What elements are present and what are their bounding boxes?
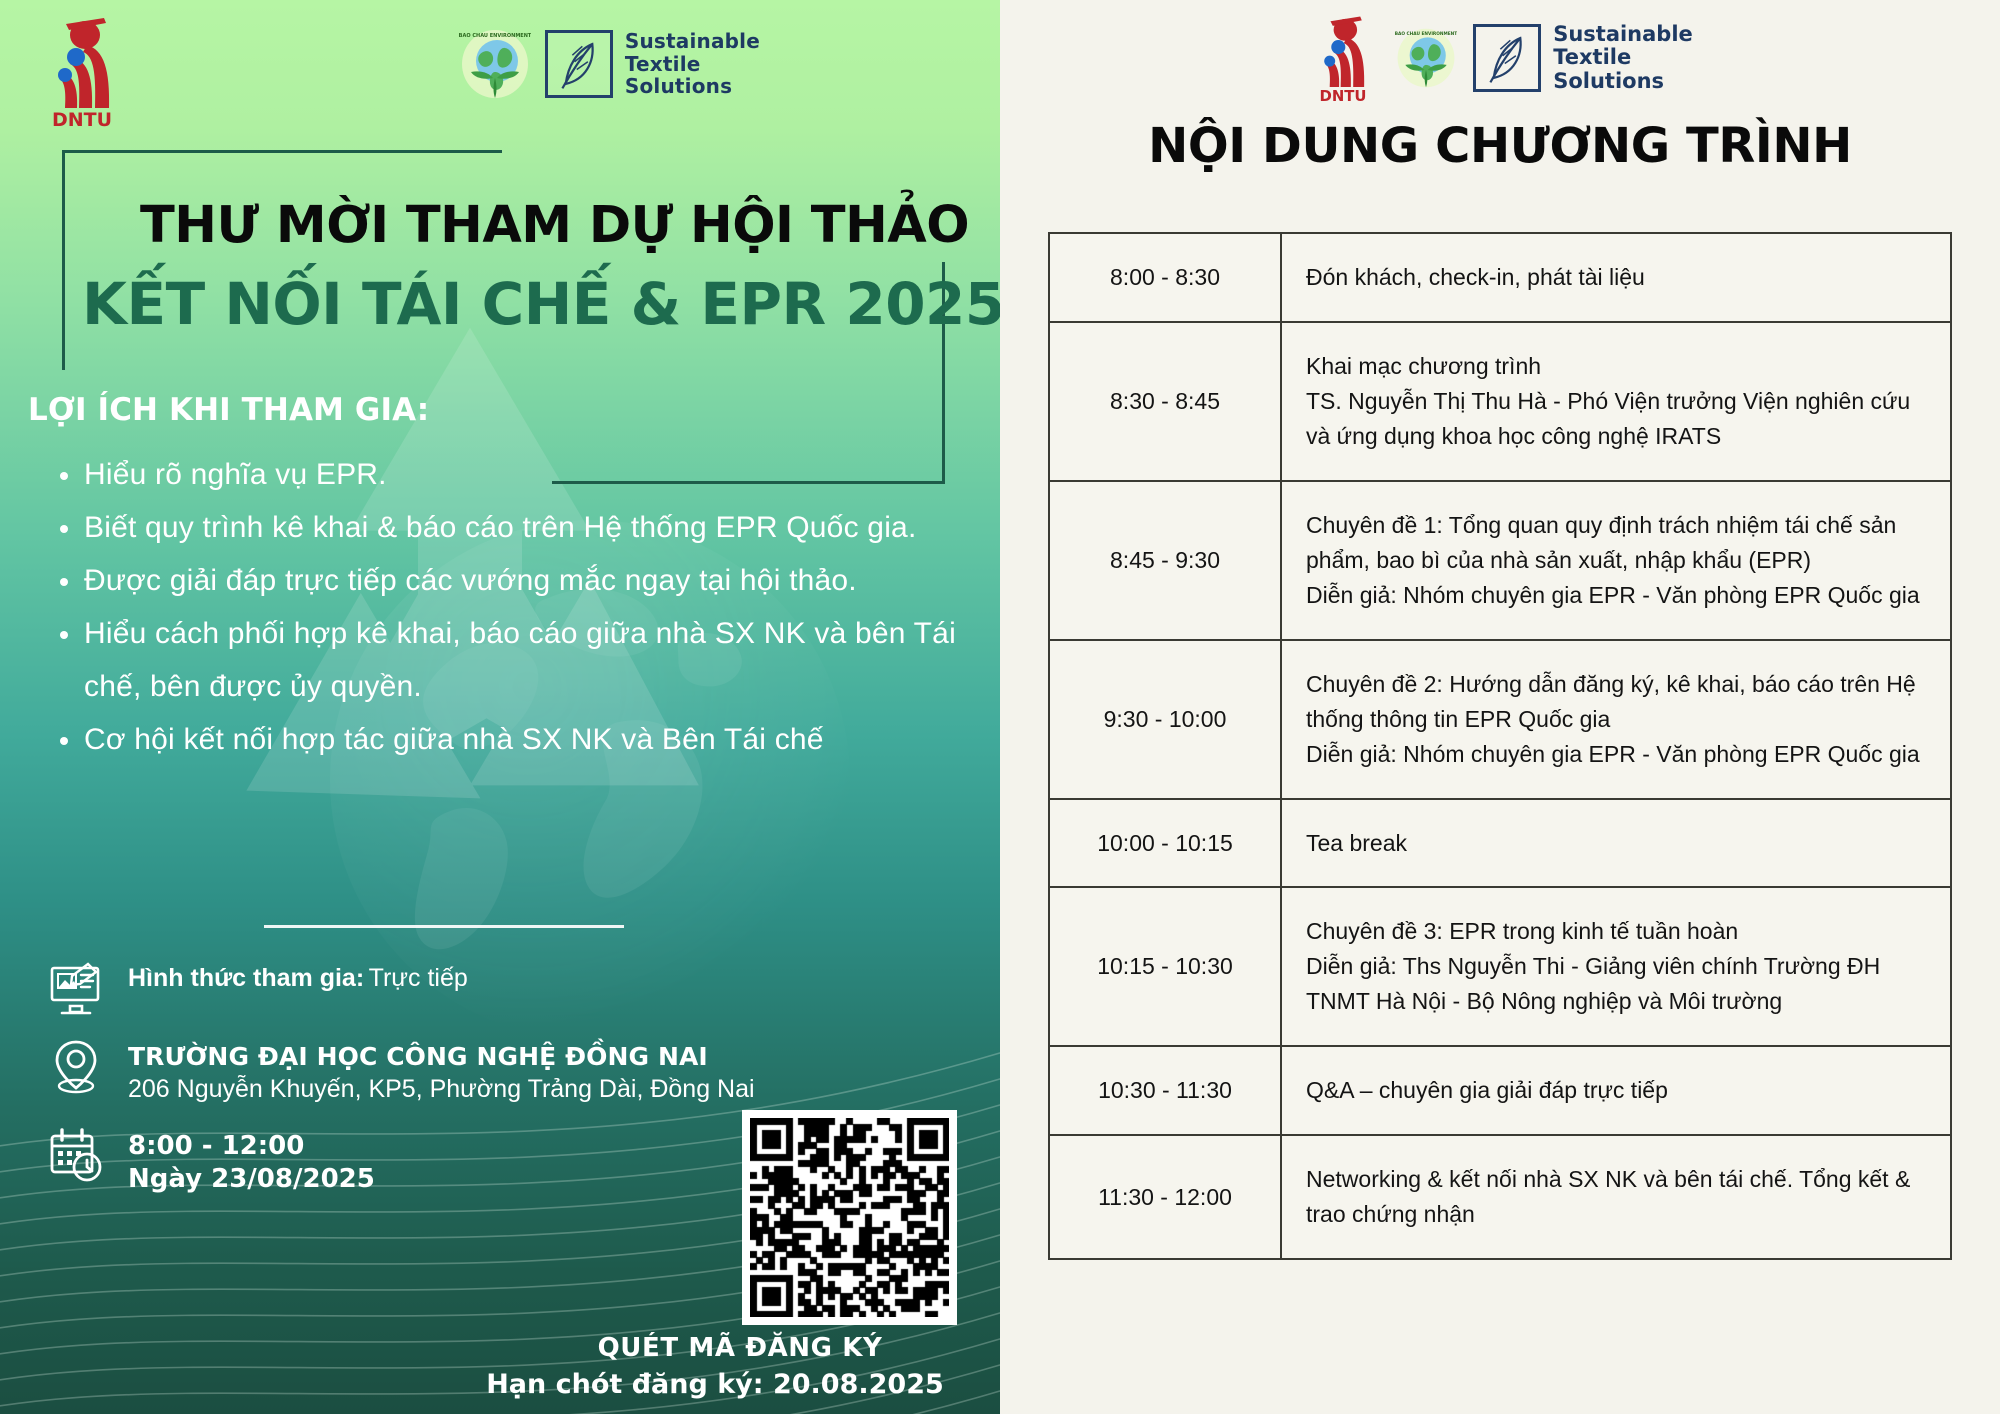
leaf-icon bbox=[1473, 24, 1541, 92]
sustainable-textile-solutions-logo: Sustainable Textile Solutions bbox=[1473, 23, 1693, 94]
sts-line-1: Sustainable bbox=[625, 30, 760, 52]
agenda-time-cell: 8:45 - 9:30 bbox=[1049, 481, 1281, 640]
sts-line-2: Textile bbox=[625, 53, 760, 75]
sts-line-3: Solutions bbox=[625, 75, 760, 97]
registration-deadline: Hạn chót đăng ký: 20.08.2025 bbox=[470, 1369, 960, 1400]
list-item: Được giải đáp trực tiếp các vướng mắc ng… bbox=[50, 554, 980, 607]
bao-chau-environment-logo-icon: BAO CHAU ENVIRONMENT bbox=[459, 28, 531, 100]
list-item: Biết quy trình kê khai & báo cáo trên Hệ… bbox=[50, 501, 980, 554]
agenda-line: Chuyên đề 3: EPR trong kinh tế tuần hoàn bbox=[1306, 914, 1926, 949]
right-agenda-panel: DNTU BAO CHAU ENVIRONMENT bbox=[1000, 0, 2000, 1414]
frame-line-top bbox=[62, 150, 502, 153]
agenda-description-cell: Chuyên đề 1: Tổng quan quy định trách nh… bbox=[1281, 481, 1951, 640]
agenda-line: Chuyên đề 1: Tổng quan quy định trách nh… bbox=[1306, 508, 1926, 578]
invitation-title-line-1: THƯ MỜI THAM DỰ HỘI THẢO bbox=[140, 196, 940, 255]
agenda-time-cell: 8:00 - 8:30 bbox=[1049, 233, 1281, 322]
benefits-list: Hiểu rõ nghĩa vụ EPR. Biết quy trình kê … bbox=[50, 448, 980, 766]
table-row: 10:30 - 11:30Q&A – chuyên gia giải đáp t… bbox=[1049, 1046, 1951, 1135]
invitation-title-line-2: KẾT NỐI TÁI CHẾ & EPR 2025 bbox=[82, 270, 962, 338]
benefits-heading: LỢI ÍCH KHI THAM GIA: bbox=[28, 392, 429, 428]
table-row: 8:30 - 8:45 Khai mạc chương trìnhTS. Ngu… bbox=[1049, 322, 1951, 481]
agenda-time-cell: 8:30 - 8:45 bbox=[1049, 322, 1281, 481]
svg-text:DNTU: DNTU bbox=[1320, 87, 1367, 105]
agenda-line: Diễn giả: Nhóm chuyên gia EPR - Văn phòn… bbox=[1306, 578, 1926, 613]
list-item: Cơ hội kết nối hợp tác giữa nhà SX NK và… bbox=[50, 713, 980, 766]
calendar-clock-icon bbox=[48, 1126, 104, 1182]
agenda-time-cell: 10:30 - 11:30 bbox=[1049, 1046, 1281, 1135]
list-item: Hiểu cách phối hợp kê khai, báo cáo giữa… bbox=[50, 607, 980, 713]
list-item: Hiểu rõ nghĩa vụ EPR. bbox=[50, 448, 980, 501]
svg-text:BAO CHAU ENVIRONMENT: BAO CHAU ENVIRONMENT bbox=[1395, 31, 1457, 37]
venue-text: TRƯỜNG ĐẠI HỌC CÔNG NGHỆ ĐỒNG NAI 206 Ng… bbox=[128, 1038, 755, 1104]
agenda-description-cell: Tea break bbox=[1281, 799, 1951, 888]
sts-wordmark: Sustainable Textile Solutions bbox=[625, 30, 760, 97]
sustainable-textile-solutions-logo: Sustainable Textile Solutions bbox=[545, 30, 760, 98]
agenda-table: 8:00 - 8:30Đón khách, check-in, phát tài… bbox=[1048, 232, 1952, 1260]
sts-line-1: Sustainable bbox=[1553, 23, 1693, 47]
table-row: 10:00 - 10:15Tea break bbox=[1049, 799, 1951, 888]
qr-caption: QUÉT MÃ ĐĂNG KÝ bbox=[520, 1333, 960, 1363]
table-row: 10:15 - 10:30Chuyên đề 3: EPR trong kinh… bbox=[1049, 887, 1951, 1046]
table-row: 8:45 - 9:30Chuyên đề 1: Tổng quan quy đị… bbox=[1049, 481, 1951, 640]
invitation-poster: DNTU BAO CHAU ENVIRONMENT bbox=[0, 0, 2000, 1414]
agenda-description-cell: Chuyên đề 2: Hướng dẫn đăng ký, kê khai,… bbox=[1281, 640, 1951, 799]
agenda-line: Networking & kết nối nhà SX NK và bên tá… bbox=[1306, 1162, 1926, 1232]
location-pin-icon bbox=[48, 1038, 104, 1094]
agenda-description-cell: Khai mạc chương trìnhTS. Nguyễn Thị Thu … bbox=[1281, 322, 1951, 481]
sts-line-3: Solutions bbox=[1553, 70, 1693, 94]
agenda-time-cell: 10:15 - 10:30 bbox=[1049, 887, 1281, 1046]
sts-wordmark: Sustainable Textile Solutions bbox=[1553, 23, 1693, 94]
dntu-logo-icon: DNTU bbox=[36, 12, 128, 130]
sts-line-2: Textile bbox=[1553, 46, 1693, 70]
info-row-venue: TRƯỜNG ĐẠI HỌC CÔNG NGHỆ ĐỒNG NAI 206 Ng… bbox=[48, 1038, 988, 1104]
agenda-description-cell: Đón khách, check-in, phát tài liệu bbox=[1281, 233, 1951, 322]
agenda-time-cell: 10:00 - 10:15 bbox=[1049, 799, 1281, 888]
event-date: Ngày 23/08/2025 bbox=[128, 1163, 375, 1196]
left-invitation-panel: DNTU BAO CHAU ENVIRONMENT bbox=[0, 0, 1000, 1414]
partner-logo-group: BAO CHAU ENVIRONMENT Sustainable Textile bbox=[459, 28, 760, 100]
agenda-description-cell: Chuyên đề 3: EPR trong kinh tế tuần hoàn… bbox=[1281, 887, 1951, 1046]
venue-name: TRƯỜNG ĐẠI HỌC CÔNG NGHỆ ĐỒNG NAI bbox=[128, 1042, 755, 1071]
agenda-line: Chuyên đề 2: Hướng dẫn đăng ký, kê khai,… bbox=[1306, 667, 1926, 737]
agenda-line: Diễn giả: Nhóm chuyên gia EPR - Văn phòn… bbox=[1306, 737, 1926, 772]
format-text: Hình thức tham gia: Trực tiếp bbox=[128, 960, 468, 993]
agenda-description-cell: Q&A – chuyên gia giải đáp trực tiếp bbox=[1281, 1046, 1951, 1135]
venue-address: 206 Nguyễn Khuyến, KP5, Phường Trảng Dài… bbox=[128, 1075, 755, 1104]
agenda-description-cell: Networking & kết nối nhà SX NK và bên tá… bbox=[1281, 1135, 1951, 1259]
svg-text:DNTU: DNTU bbox=[52, 109, 112, 130]
agenda-title: NỘI DUNG CHƯƠNG TRÌNH bbox=[1000, 118, 2000, 174]
qr-code[interactable] bbox=[742, 1110, 957, 1325]
agenda-time-cell: 9:30 - 10:00 bbox=[1049, 640, 1281, 799]
section-divider bbox=[264, 925, 624, 928]
format-label: Hình thức tham gia: bbox=[128, 964, 364, 992]
info-row-format: Hình thức tham gia: Trực tiếp bbox=[48, 960, 988, 1016]
agenda-line: Đón khách, check-in, phát tài liệu bbox=[1306, 260, 1926, 295]
table-row: 8:00 - 8:30Đón khách, check-in, phát tài… bbox=[1049, 233, 1951, 322]
agenda-line: Diễn giả: Ths Nguyễn Thi - Giảng viên ch… bbox=[1306, 949, 1926, 1019]
frame-line-left bbox=[62, 150, 65, 370]
agenda-line: Q&A – chuyên gia giải đáp trực tiếp bbox=[1306, 1073, 1926, 1108]
format-value: Trực tiếp bbox=[369, 964, 468, 992]
agenda-line: TS. Nguyễn Thị Thu Hà - Phó Viện trưởng … bbox=[1306, 384, 1926, 454]
event-time-range: 8:00 - 12:00 bbox=[128, 1130, 375, 1163]
presentation-screen-icon bbox=[48, 960, 104, 1016]
bao-chau-environment-logo-icon: BAO CHAU ENVIRONMENT bbox=[1395, 27, 1457, 89]
datetime-text: 8:00 - 12:00 Ngày 23/08/2025 bbox=[128, 1126, 375, 1197]
agenda-line: Khai mạc chương trình bbox=[1306, 349, 1926, 384]
dntu-logo-icon: DNTU bbox=[1307, 10, 1379, 106]
svg-text:BAO CHAU ENVIRONMENT: BAO CHAU ENVIRONMENT bbox=[459, 33, 531, 39]
left-logo-row: DNTU BAO CHAU ENVIRONMENT bbox=[0, 0, 1000, 130]
table-row: 11:30 - 12:00Networking & kết nối nhà SX… bbox=[1049, 1135, 1951, 1259]
right-logo-row: DNTU BAO CHAU ENVIRONMENT bbox=[1000, 10, 2000, 106]
leaf-icon bbox=[545, 30, 613, 98]
agenda-time-cell: 11:30 - 12:00 bbox=[1049, 1135, 1281, 1259]
table-row: 9:30 - 10:00Chuyên đề 2: Hướng dẫn đăng … bbox=[1049, 640, 1951, 799]
agenda-line: Tea break bbox=[1306, 826, 1926, 861]
